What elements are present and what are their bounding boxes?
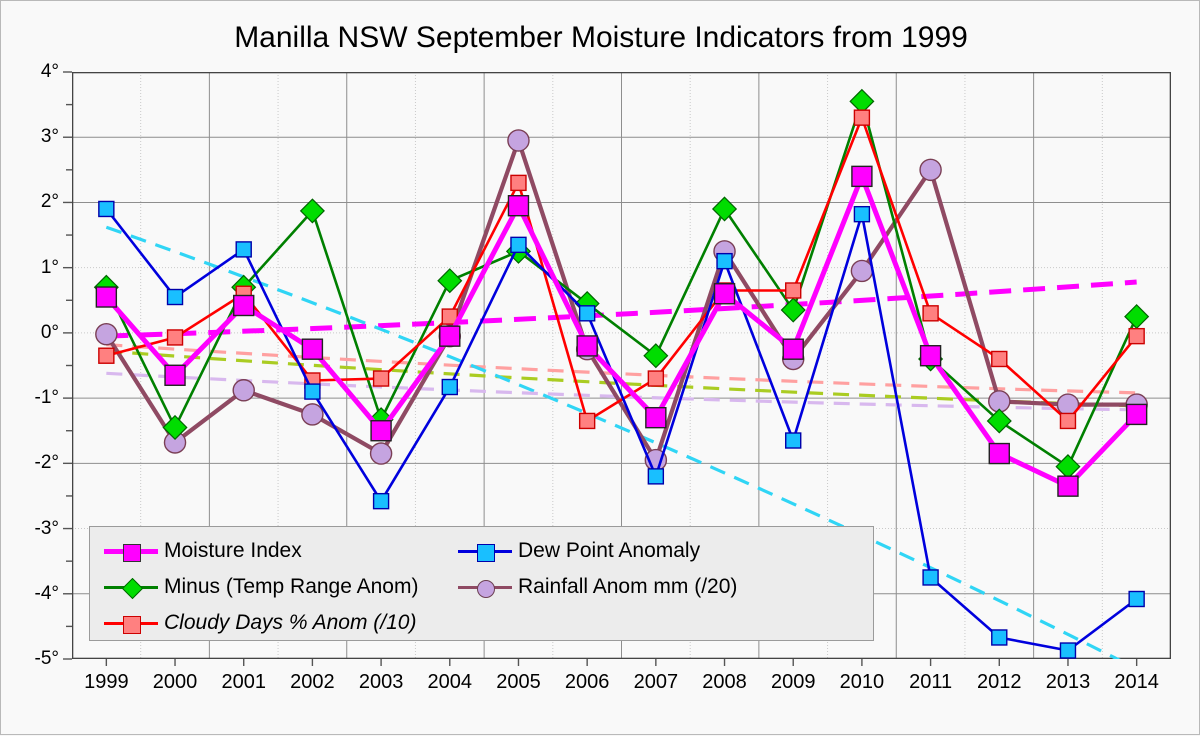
chart-title: Manilla NSW September Moisture Indicator… (1, 21, 1200, 55)
x-axis-tick-label: 2014 (1097, 671, 1177, 694)
legend-item-label: Moisture Index (164, 539, 302, 563)
legend-item-0[interactable]: Moisture Index (104, 533, 302, 569)
y-axis-tick-label: 1° (1, 257, 59, 279)
y-axis-tick-label: 3° (1, 126, 59, 148)
legend: Moisture IndexDew Point AnomalyMinus (Te… (89, 526, 874, 641)
legend-item-4[interactable]: Rainfall Anom mm (/20) (458, 569, 737, 605)
y-axis-tick-label: -2° (1, 452, 59, 474)
chart-canvas: Manilla NSW September Moisture Indicator… (0, 0, 1200, 735)
legend-item-2[interactable]: Cloudy Days % Anom (/10) (104, 605, 416, 641)
y-axis-tick-label: 0° (1, 322, 59, 344)
legend-item-label: Rainfall Anom mm (/20) (518, 575, 737, 599)
legend-item-3[interactable]: Dew Point Anomaly (458, 533, 700, 569)
legend-item-label: Dew Point Anomaly (518, 539, 700, 563)
y-axis-tick-label: -1° (1, 387, 59, 409)
y-axis-tick-label: -4° (1, 583, 59, 605)
legend-marker-icon (104, 611, 158, 635)
legend-marker-icon (104, 539, 158, 563)
y-axis-tick-label: 4° (1, 61, 59, 83)
legend-marker-icon (458, 575, 512, 599)
legend-marker-icon (458, 539, 512, 563)
legend-item-label: Minus (Temp Range Anom) (164, 575, 418, 599)
y-axis-tick-label: 2° (1, 191, 59, 213)
legend-item-1[interactable]: Minus (Temp Range Anom) (104, 569, 418, 605)
legend-marker-icon (104, 575, 158, 599)
legend-item-label: Cloudy Days % Anom (/10) (164, 611, 416, 635)
y-axis-tick-label: -5° (1, 648, 59, 670)
y-axis-tick-label: -3° (1, 518, 59, 540)
